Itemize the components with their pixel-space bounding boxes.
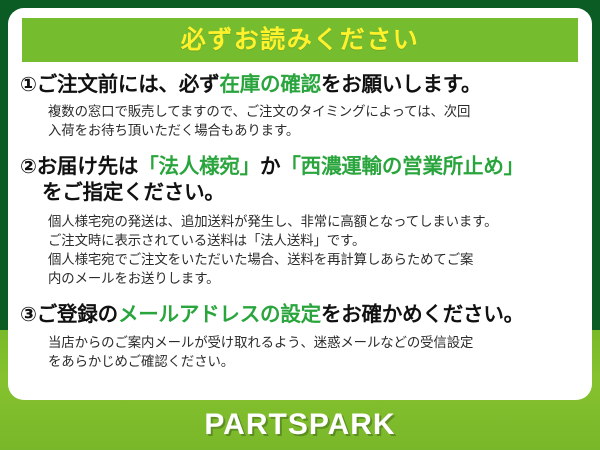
notice-item-2-heading-part-3: か — [260, 155, 280, 178]
brand-logo-text: PARTSPARK — [204, 408, 395, 442]
notice-item-1-body: 複数の窓口で販売してますので、ご注文のタイミングによっては、次回 入荷をお待ち頂… — [20, 102, 582, 140]
notice-item-1-body-line-2: 入荷をお待ち頂いただく場合もあります。 — [48, 121, 582, 140]
content-panel: 必ずお読みください ①ご注文前には、必ず在庫の確認をお願いします。 複数の窓口で… — [8, 8, 592, 400]
notice-item-3-heading: ③ご登録のメールアドレスの設定をお確かめください。 — [20, 302, 582, 329]
notice-item-1-heading-part-1: ご注文前には、必ず — [37, 73, 220, 96]
notice-item-2-heading-part-1: お届け先は — [37, 155, 139, 178]
header-banner: 必ずお読みください — [22, 18, 578, 62]
notice-items-list: ①ご注文前には、必ず在庫の確認をお願いします。 複数の窓口で販売してますので、ご… — [8, 70, 592, 371]
notice-item-3-heading-highlight: メールアドレスの設定 — [118, 303, 321, 326]
notice-item-3-heading-part-3: をお確かめください。 — [321, 303, 524, 326]
notice-item-3: ③ご登録のメールアドレスの設定をお確かめください。 当店からのご案内メールが受け… — [8, 302, 592, 371]
notice-item-2: ②お届け先は「法人様宛」か「西濃運輸の営業所止め」 をご指定ください。 個人様宅… — [8, 154, 592, 288]
notice-item-2-heading: ②お届け先は「法人様宛」か「西濃運輸の営業所止め」 — [20, 154, 582, 181]
brand-footer: PARTSPARK — [0, 400, 600, 450]
notice-item-2-body-line-1: 個人様宅宛の発送は、追加送料が発生し、非常に高額となってしまいます。 — [48, 212, 582, 231]
notice-item-1-heading: ①ご注文前には、必ず在庫の確認をお願いします。 — [20, 72, 582, 99]
notice-item-2-heading-highlight-2: 「西濃運輸の営業所止め」 — [280, 155, 524, 178]
notice-item-3-marker: ③ — [20, 304, 37, 326]
notice-item-1: ①ご注文前には、必ず在庫の確認をお願いします。 複数の窓口で販売してますので、ご… — [8, 72, 592, 140]
notice-item-1-heading-highlight: 在庫の確認 — [219, 73, 321, 96]
header-title: 必ずお読みください — [181, 28, 420, 53]
notice-item-3-heading-part-1: ご登録の — [37, 303, 118, 326]
notice-item-2-body: 個人様宅宛の発送は、追加送料が発生し、非常に高額となってしまいます。 ご注文時に… — [20, 212, 582, 288]
notice-item-3-body-line-1: 当店からのご案内メールが受け取れるよう、迷惑メールなどの受信設定 — [48, 333, 582, 352]
notice-item-3-body: 当店からのご案内メールが受け取れるよう、迷惑メールなどの受信設定 をあらかじめご… — [20, 333, 582, 371]
notice-item-3-body-line-2: をあらかじめご確認ください。 — [48, 352, 582, 371]
notice-item-2-body-line-3: 個人様宅宛でご注文をいただいた場合、送料を再計算しあらためてご案 — [48, 250, 582, 269]
notice-item-2-heading-highlight-1: 「法人様宛」 — [138, 155, 260, 178]
notice-item-2-body-line-4: 内のメールをお送りします。 — [48, 269, 582, 288]
notice-item-2-heading-line-2: をご指定ください。 — [20, 180, 582, 207]
notice-item-1-body-line-1: 複数の窓口で販売してますので、ご注文のタイミングによっては、次回 — [48, 102, 582, 121]
notice-item-1-heading-part-3: をお願いします。 — [321, 73, 481, 96]
notice-item-2-body-line-2: ご注文時に表示されている送料は「法人送料」です。 — [48, 231, 582, 250]
notice-item-2-marker: ② — [20, 156, 37, 178]
notice-card: 必ずお読みください ①ご注文前には、必ず在庫の確認をお願いします。 複数の窓口で… — [0, 0, 600, 450]
notice-item-1-marker: ① — [20, 74, 37, 96]
